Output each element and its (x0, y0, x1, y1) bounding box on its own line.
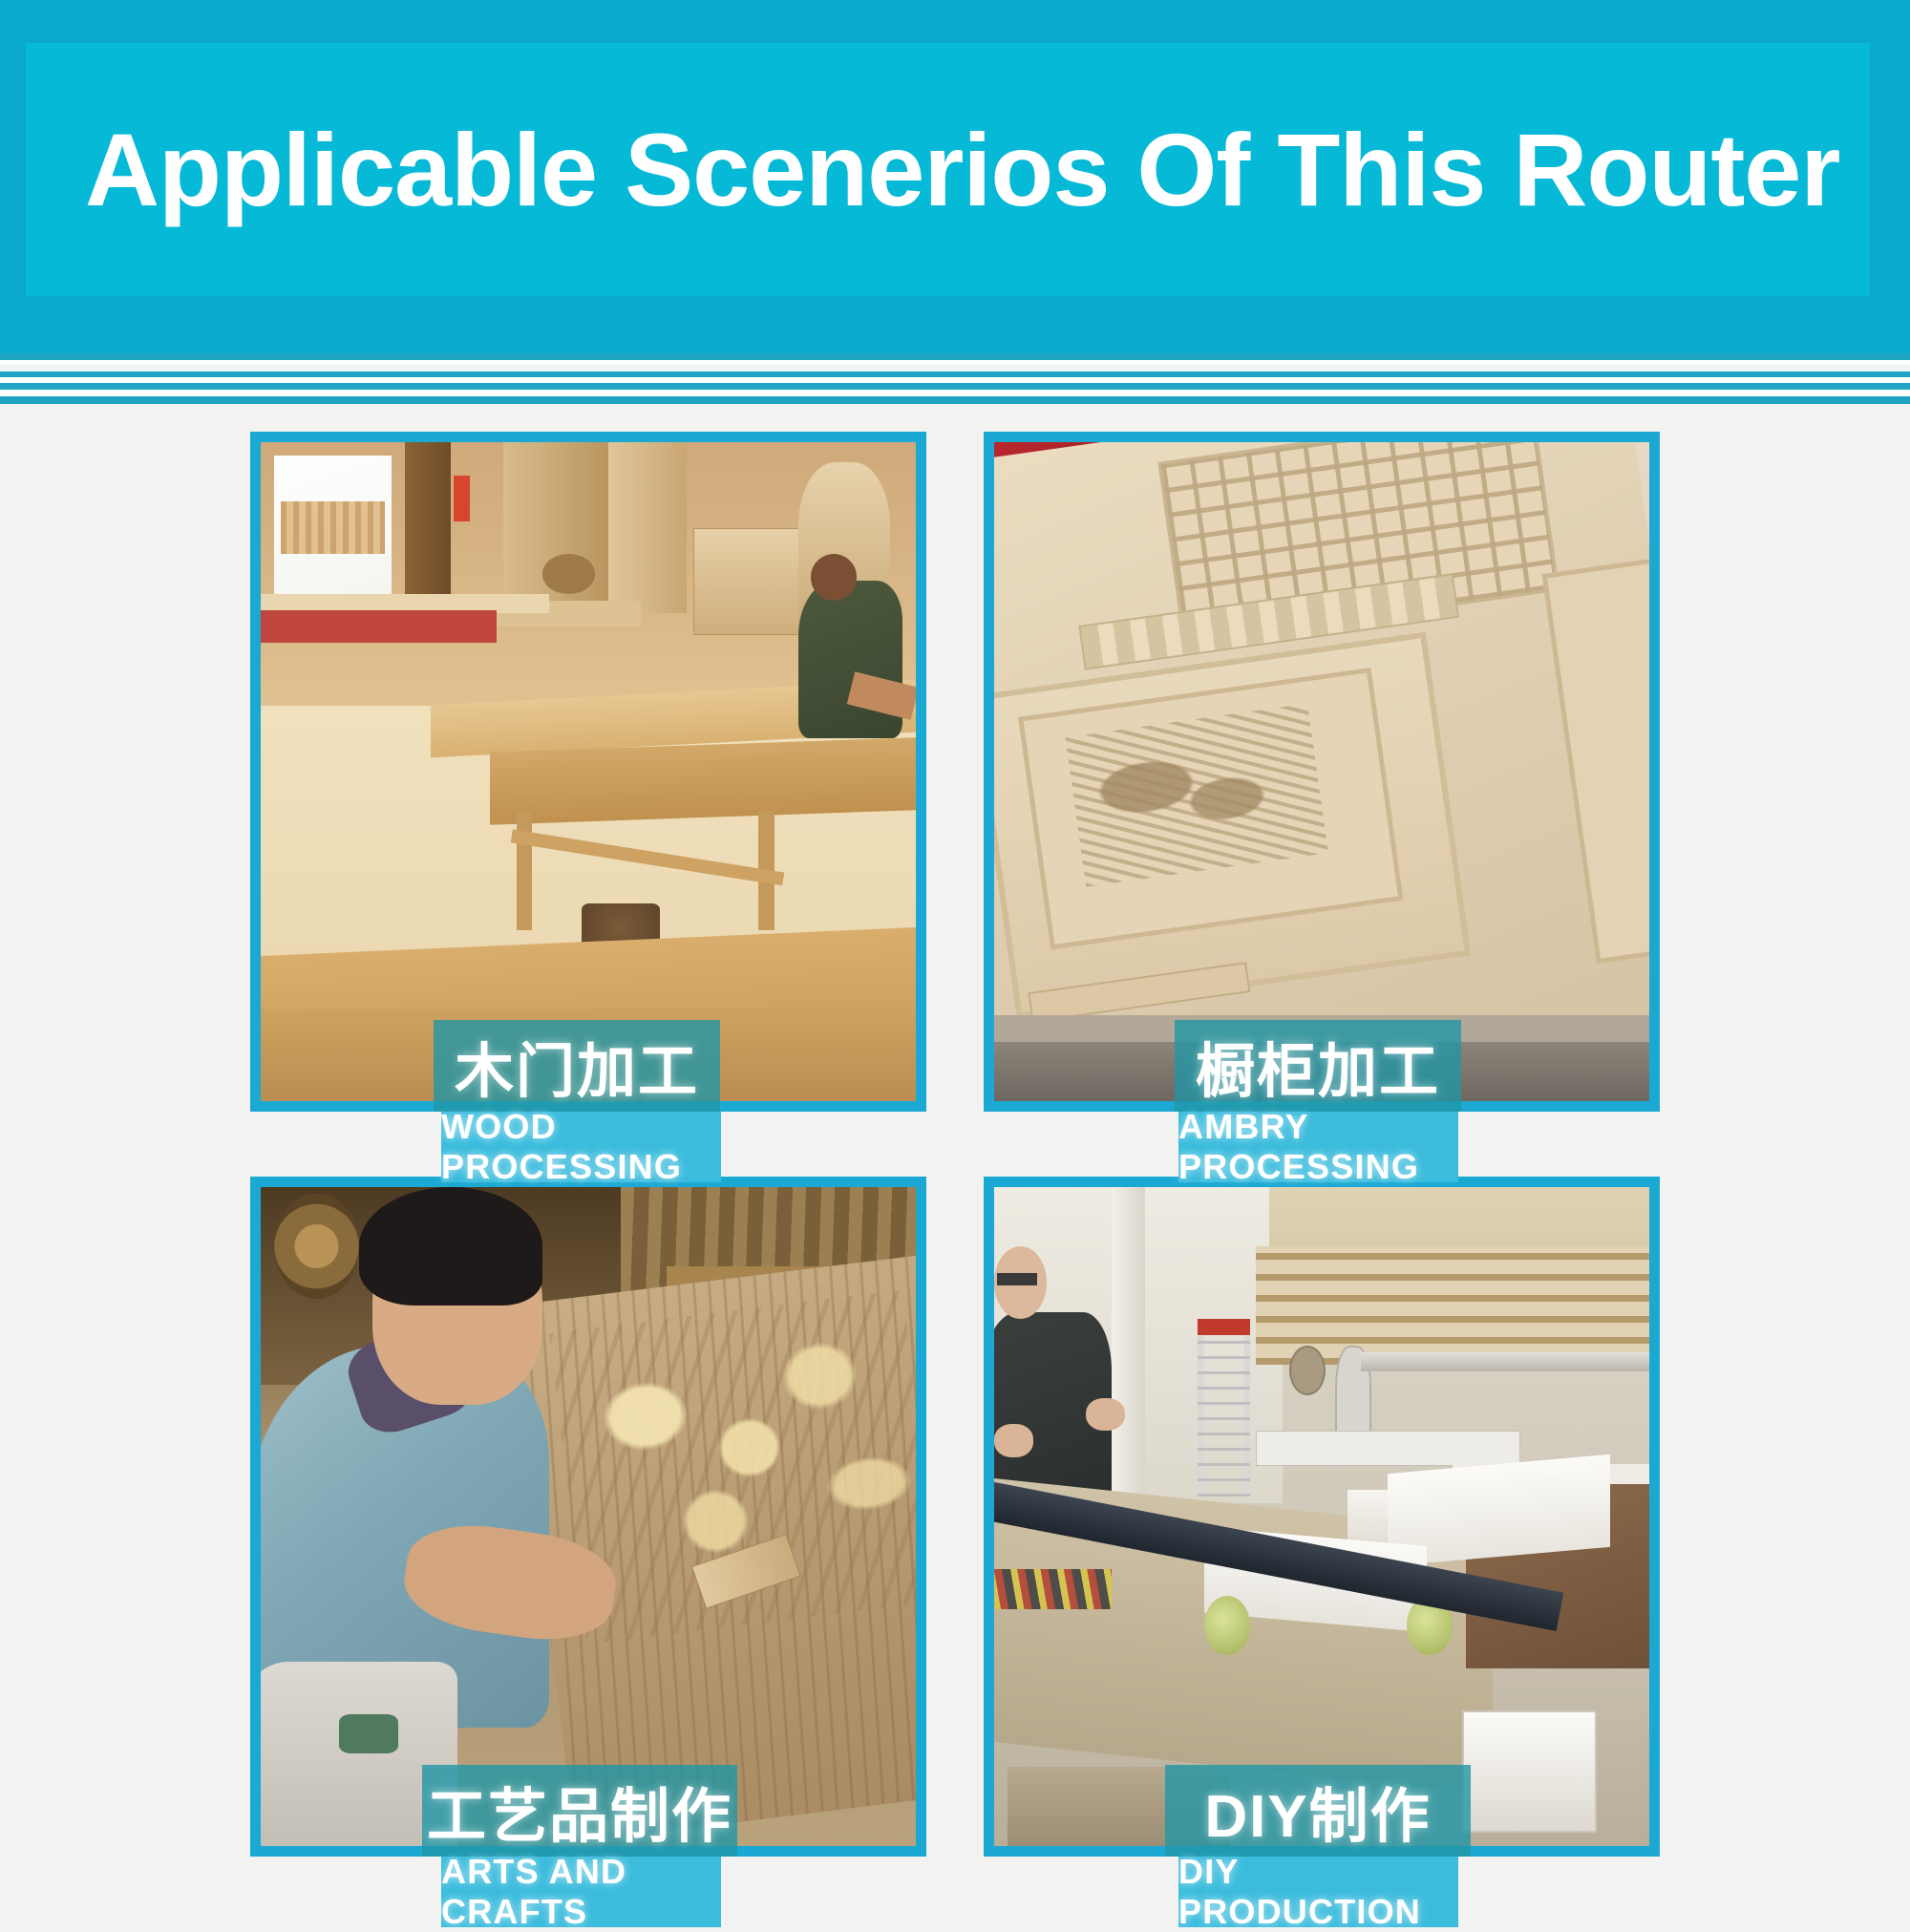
caption-chinese: 木门加工 (434, 1020, 720, 1112)
gallery-item-arts-and-crafts[interactable]: 工艺品制作 ARTS AND CRAFTS (250, 1177, 926, 1857)
gallery-item-diy-production[interactable]: DIY制作 DIY PRODUCTION (984, 1177, 1660, 1857)
gallery-item-ambry-processing[interactable]: 橱柜加工 AMBRY PROCESSING (984, 432, 1660, 1112)
photo-frame (984, 432, 1660, 1112)
support-column (1112, 1187, 1144, 1503)
craftsman-hair (359, 1187, 542, 1306)
red-sign (454, 476, 469, 521)
page-title: Applicable Scenerios Of This Router (85, 118, 1839, 222)
carved-door-panel (994, 442, 1649, 1101)
photo-ambry-processing (994, 442, 1649, 1101)
feed-roller (1204, 1596, 1250, 1655)
worker-torso (798, 581, 903, 739)
photo-wood-processing (261, 442, 916, 1101)
presenter-hand-right (994, 1424, 1033, 1457)
photo-frame (250, 432, 926, 1112)
gallery-item-wood-processing[interactable]: 木门加工 WOOD PROCESSING (250, 432, 926, 1112)
divider-stripe (0, 390, 1910, 396)
photo-arts-and-crafts (261, 1187, 916, 1846)
caption-english: DIY PRODUCTION (1178, 1857, 1458, 1927)
presenter-hand-left (1086, 1398, 1125, 1432)
caption-chinese: DIY制作 (1165, 1765, 1471, 1857)
carved-table-apron (490, 738, 916, 825)
photo-frame (984, 1177, 1660, 1857)
white-workpiece-box (1462, 1710, 1597, 1833)
caption-english: ARTS AND CRAFTS (441, 1857, 721, 1927)
door-panel-leaning-2 (608, 442, 687, 613)
wall-port (1289, 1346, 1326, 1395)
divider-stripe (0, 353, 1910, 360)
worker-head (811, 554, 857, 600)
step-ladder (1198, 1326, 1250, 1497)
cabinet-background (693, 528, 813, 635)
divider-stripe (0, 383, 1910, 390)
router-gantry (1256, 1431, 1519, 1466)
divider-stripe (0, 404, 1910, 413)
caption-chinese: 工艺品制作 (422, 1765, 737, 1857)
table-leg (517, 811, 532, 929)
caption-chinese: 橱柜加工 (1175, 1020, 1461, 1112)
scenario-gallery: 木门加工 WOOD PROCESSING (0, 413, 1910, 1910)
divider-stripe (0, 396, 1910, 404)
right-panel-column (1541, 557, 1649, 964)
striped-divider (0, 353, 1910, 413)
hand-tools (994, 1569, 1112, 1608)
caption-english: AMBRY PROCESSING (1178, 1112, 1458, 1182)
caption-english: WOOD PROCESSING (441, 1112, 721, 1182)
header-banner-inner: Applicable Scenerios Of This Router (26, 43, 1870, 296)
photo-frame (250, 1177, 926, 1857)
trouser-pocket (339, 1714, 398, 1753)
header-banner: Applicable Scenerios Of This Router (0, 0, 1910, 353)
red-table-apron (261, 610, 497, 644)
wooden-wheel-ornament (274, 1194, 359, 1299)
ladder-top-cap (1198, 1319, 1250, 1335)
overhead-pipe (1361, 1352, 1649, 1372)
tool-bag (542, 554, 595, 593)
photo-diy-production (994, 1187, 1649, 1846)
presenter-glasses (997, 1273, 1036, 1286)
pillar (405, 442, 451, 613)
stacked-lumber (281, 501, 386, 554)
divider-stripe (0, 365, 1910, 372)
